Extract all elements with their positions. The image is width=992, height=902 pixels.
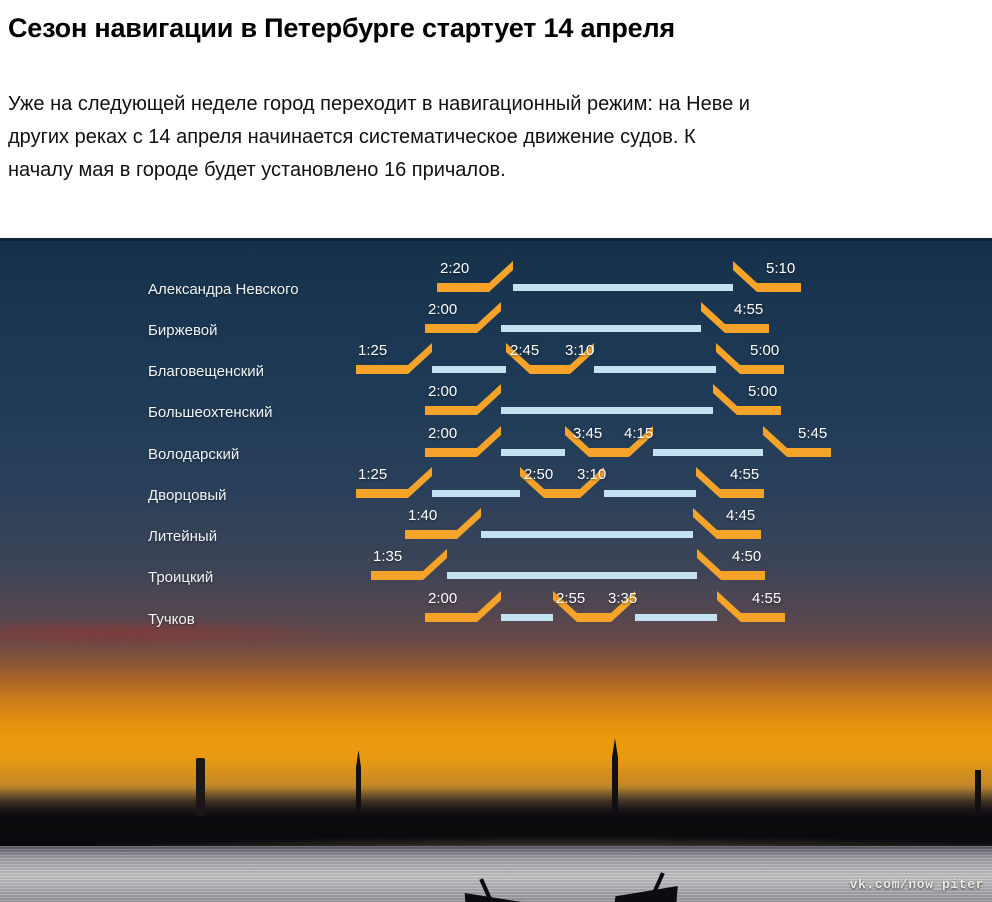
bar-segment-open	[432, 490, 520, 497]
time-label: 2:45	[510, 342, 539, 359]
bar-segment-closing	[716, 343, 740, 374]
bar-segment-opening	[423, 549, 447, 580]
photo-panel: Александра Невского2:205:10Биржевой2:004…	[0, 238, 992, 902]
bar-segment-open	[501, 614, 553, 621]
rostral-column-left	[196, 758, 205, 816]
bar-segment-closing	[697, 549, 721, 580]
intro-paragraph: Уже на следующей неделе город переходит …	[8, 88, 980, 187]
time-label: 3:10	[577, 466, 606, 483]
admiralty-spire	[356, 750, 361, 812]
bar-segment-closed-level	[720, 489, 764, 498]
bar-segment-closing	[701, 302, 725, 333]
bar-segment-open	[635, 614, 717, 621]
bar-segment-closing	[696, 467, 720, 498]
time-label: 1:35	[373, 548, 402, 565]
time-label: 2:00	[428, 383, 457, 400]
time-label: 2:20	[440, 260, 469, 277]
bar-segment-closed-level	[425, 406, 477, 415]
bar-segment-open	[604, 490, 696, 497]
bridge-schedule-chart: Александра Невского2:205:10Биржевой2:004…	[0, 238, 992, 658]
time-label: 3:35	[608, 590, 637, 607]
bar-segment-closed-level	[787, 448, 831, 457]
bar-segment-closing	[717, 591, 741, 622]
page-title: Сезон навигации в Петербурге стартует 14…	[8, 14, 968, 44]
bridge-name-label: Благовещенский	[148, 363, 264, 380]
bar-segment-closed-level	[589, 448, 629, 457]
bridge-name-label: Александра Невского	[148, 281, 299, 298]
bar-segment-opening	[408, 467, 432, 498]
bar-segment-closed-level	[356, 365, 408, 374]
time-label: 2:55	[556, 590, 585, 607]
time-label: 3:10	[565, 342, 594, 359]
bar-segment-opening	[408, 343, 432, 374]
time-label: 1:25	[358, 466, 387, 483]
time-label: 1:25	[358, 342, 387, 359]
time-label: 5:00	[748, 383, 777, 400]
bar-segment-closed-level	[371, 571, 423, 580]
bar-segment-closed-level	[725, 324, 769, 333]
time-label: 2:00	[428, 590, 457, 607]
peter-paul-spire	[612, 738, 618, 814]
bar-segment-open	[501, 325, 701, 332]
skyline-tower-right	[975, 770, 981, 816]
bar-segment-opening	[477, 302, 501, 333]
bar-segment-closed-level	[425, 324, 477, 333]
bar-segment-opening	[477, 591, 501, 622]
intro-line-3: началу мая в городе будет установлено 16…	[8, 154, 980, 187]
bar-segment-closing	[713, 384, 737, 415]
intro-line-1: Уже на следующей неделе город переходит …	[8, 88, 980, 121]
bar-segment-open	[501, 449, 565, 456]
bar-segment-opening	[457, 508, 481, 539]
bridge-name-label: Троицкий	[148, 569, 213, 586]
bar-segment-open	[432, 366, 506, 373]
time-label: 2:00	[428, 425, 457, 442]
time-label: 4:45	[726, 507, 755, 524]
bridge-name-label: Дворцовый	[148, 487, 227, 504]
time-label: 5:00	[750, 342, 779, 359]
time-label: 5:10	[766, 260, 795, 277]
bar-segment-closing	[763, 426, 787, 457]
bridge-name-label: Литейный	[148, 528, 217, 545]
time-label: 1:40	[408, 507, 437, 524]
time-label: 3:45	[573, 425, 602, 442]
intro-line-2: других реках с 14 апреля начинается сист…	[8, 121, 980, 154]
bar-segment-closed-level	[405, 530, 457, 539]
bar-segment-opening	[477, 384, 501, 415]
time-label: 2:50	[524, 466, 553, 483]
bar-segment-closed-level	[425, 448, 477, 457]
time-label: 4:50	[732, 548, 761, 565]
bar-segment-open	[447, 572, 697, 579]
bridge-name-label: Биржевой	[148, 322, 217, 339]
bar-segment-closed-level	[721, 571, 765, 580]
bar-segment-closing	[733, 261, 757, 292]
bar-segment-closed-level	[356, 489, 408, 498]
time-label: 4:55	[734, 301, 763, 318]
bar-segment-open	[594, 366, 716, 373]
bar-segment-open	[653, 449, 763, 456]
bar-segment-closed-level	[740, 365, 784, 374]
time-label: 2:00	[428, 301, 457, 318]
infographic-page: Сезон навигации в Петербурге стартует 14…	[0, 0, 992, 902]
bridge-name-label: Володарский	[148, 446, 239, 463]
time-label: 4:55	[752, 590, 781, 607]
time-label: 4:15	[624, 425, 653, 442]
bar-segment-closed-level	[577, 613, 611, 622]
bar-segment-closed-level	[530, 365, 570, 374]
neva-river-water	[0, 846, 992, 902]
bar-segment-closed-level	[741, 613, 785, 622]
bar-segment-closed-level	[717, 530, 761, 539]
bar-segment-closing	[693, 508, 717, 539]
bar-segment-closed-level	[437, 283, 489, 292]
bar-segment-closed-level	[757, 283, 801, 292]
bar-segment-open	[501, 407, 713, 414]
watermark: vk.com/now_piter	[850, 877, 984, 892]
bar-segment-closed-level	[544, 489, 580, 498]
bar-segment-open	[513, 284, 733, 291]
bridge-name-label: Большеохтенский	[148, 404, 272, 421]
time-label: 5:45	[798, 425, 827, 442]
bar-segment-closed-level	[425, 613, 477, 622]
bar-segment-opening	[489, 261, 513, 292]
bar-segment-opening	[477, 426, 501, 457]
bridge-name-label: Тучков	[148, 611, 195, 628]
bar-segment-open	[481, 531, 693, 538]
time-label: 4:55	[730, 466, 759, 483]
bar-segment-closed-level	[737, 406, 781, 415]
